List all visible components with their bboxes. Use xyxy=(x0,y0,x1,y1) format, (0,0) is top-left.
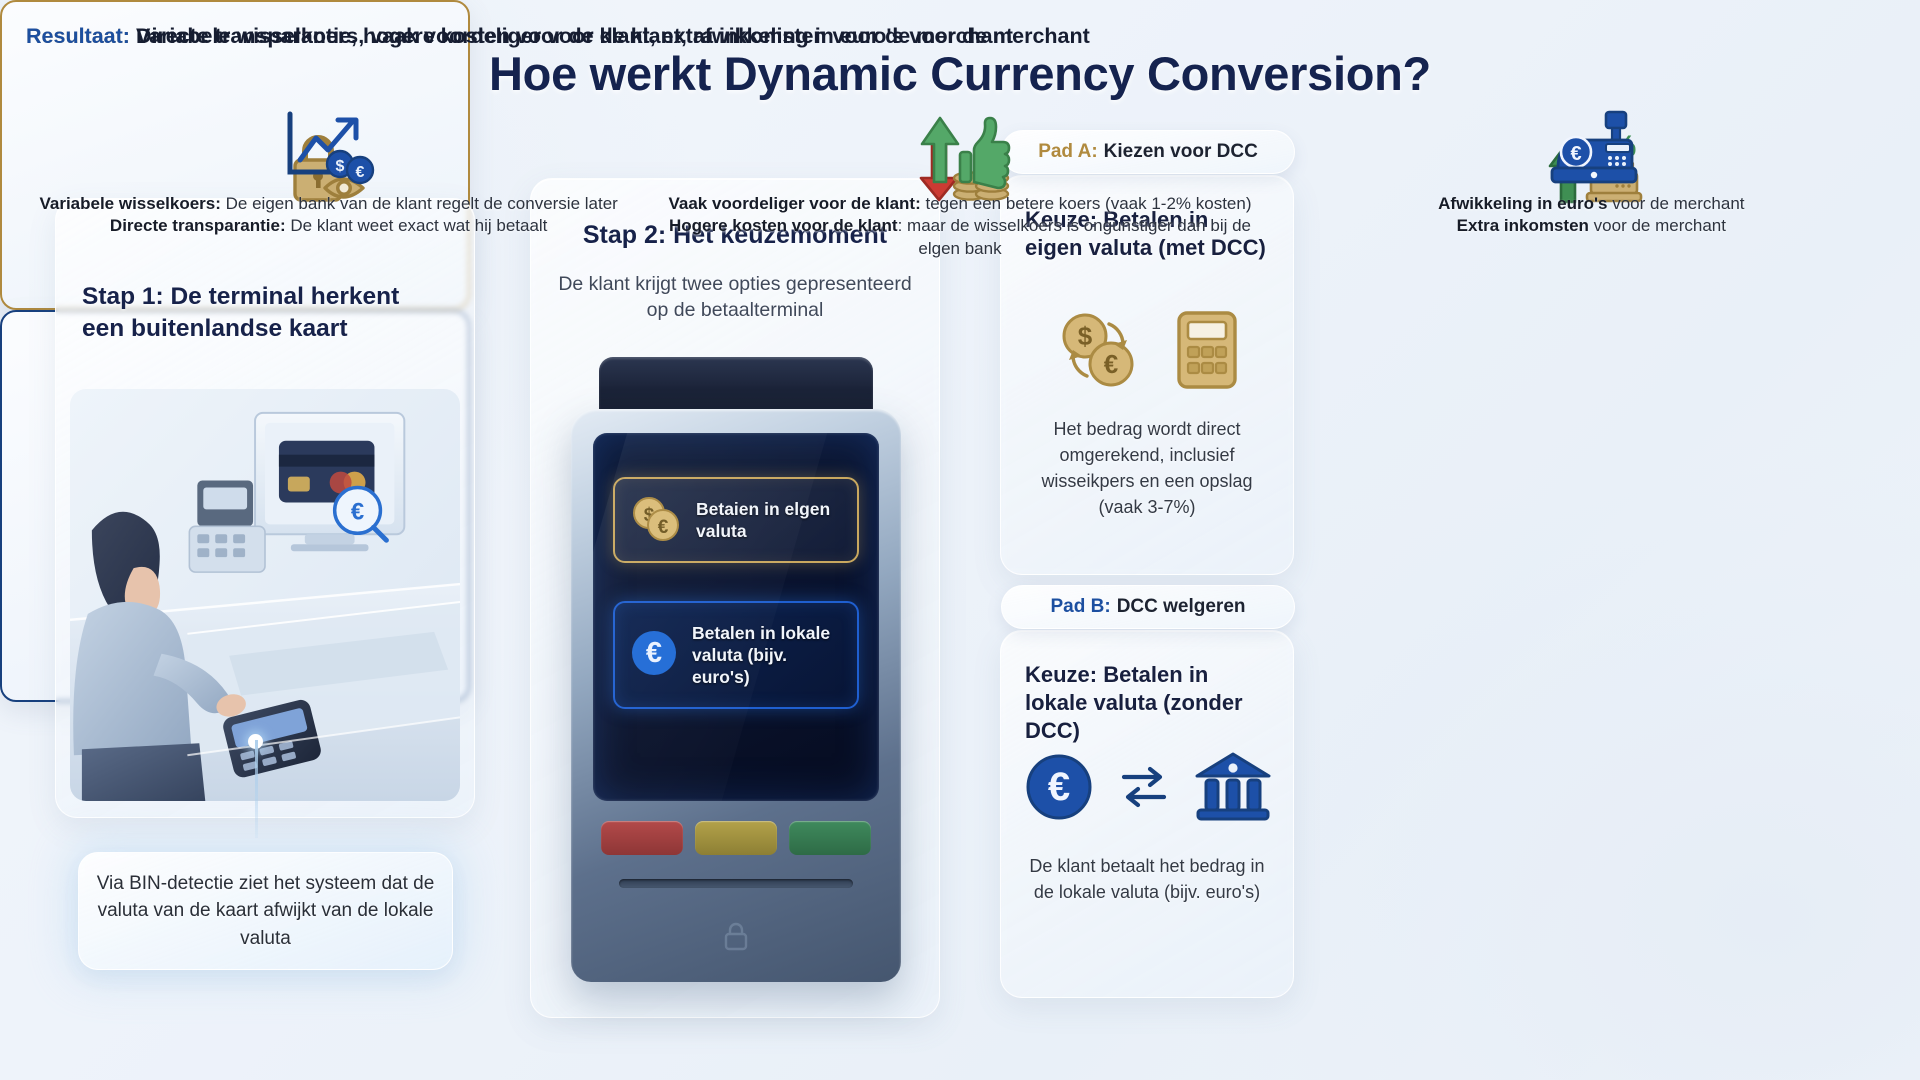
result-b-head-value: Variabele wisselkoers, vaak voordeliger … xyxy=(136,24,1090,48)
result-b-column-rest: tegen een betere koers (vaak 1-2% kosten… xyxy=(921,194,1252,213)
terminal-cancel-key[interactable] xyxy=(601,821,683,855)
path-b-heading: Keuze: Betalen in lokale valuta (zonder … xyxy=(1025,661,1271,745)
svg-text:$: $ xyxy=(644,505,655,526)
svg-text:€: € xyxy=(355,164,364,181)
result-a-column-text: Directe transparantie: De klant weet exa… xyxy=(110,214,547,237)
terminal-option-local-label: Betalen in lokale valuta (bijv. euro's) xyxy=(692,622,843,688)
terminal-option-dcc-label: Betaien in elgen valuta xyxy=(696,498,843,542)
result-a-column-text: Hogere kosten voor de klant: maar de wis… xyxy=(647,214,1272,261)
result-b-column-rest: voor de merchant xyxy=(1607,194,1744,213)
result-b-column-bold: Vaak voordeliger voor de klant: xyxy=(668,194,920,213)
step1-illustration: € xyxy=(70,389,460,801)
path-b-badge-value: DCC welgeren xyxy=(1117,596,1246,618)
terminal-keypad xyxy=(601,821,871,855)
terminal-option-pay-in-local-currency[interactable]: € Betalen in lokale valuta (bijv. euro's… xyxy=(613,601,859,709)
svg-text:€: € xyxy=(351,498,364,525)
result-b-column-text: Variabele wisselkoers: De eigen bank van… xyxy=(39,192,617,215)
path-a-icons: $ € xyxy=(1001,306,1295,398)
bin-detection-caption: Via BIN-detectie ziet het systeem dat de… xyxy=(78,852,453,970)
svg-text:$: $ xyxy=(335,158,344,175)
result-a-column-rest: voor de merchant xyxy=(1589,216,1726,235)
result-a-column-bold: Extra inkomsten xyxy=(1457,216,1589,235)
panel-step-1: Stap 1: De terminal herkent een buitenla… xyxy=(55,198,475,818)
svg-text:€: € xyxy=(1104,349,1118,379)
terminal-correct-key[interactable] xyxy=(695,821,777,855)
bin-connector-line xyxy=(255,740,258,838)
currency-exchange-coins-icon: $ € xyxy=(1057,310,1149,395)
svg-text:$: $ xyxy=(1078,321,1093,351)
payment-terminal: $ € Betaien in elgen valuta € B xyxy=(571,357,901,982)
green-up-arrow-thumbs-up-icon xyxy=(912,108,1008,186)
terminal-card-slot xyxy=(619,879,853,888)
result-a-column-bold: Directe transparantie: xyxy=(110,216,286,235)
euro-coin-icon: € xyxy=(629,628,679,683)
result-a-column-rest: : maar de wisselkoers is ongunstiger dan… xyxy=(898,216,1251,258)
panel-path-b: Pad B: DCC welgeren Keuze: Betalen in lo… xyxy=(1000,630,1294,998)
terminal-option-pay-in-own-currency[interactable]: $ € Betaien in elgen valuta xyxy=(613,477,859,563)
path-b-icons: € xyxy=(1001,743,1295,835)
result-b-column-bold: Variabele wisselkoers: xyxy=(39,194,220,213)
step1-title: Stap 1: De terminal herkent een buitenla… xyxy=(82,281,448,346)
dollar-euro-coins-icon: $ € xyxy=(629,495,683,546)
rising-chart-with-currency-coins-icon: $ € xyxy=(280,108,378,186)
result-b-column-rest: De eigen bank van de klant regelt de con… xyxy=(221,194,618,213)
svg-text:€: € xyxy=(1571,143,1582,165)
bank-icon xyxy=(1194,750,1272,829)
terminal-body: $ € Betaien in elgen valuta € B xyxy=(571,409,901,982)
svg-text:€: € xyxy=(1048,765,1070,809)
terminal-screen: $ € Betaien in elgen valuta € B xyxy=(593,433,879,801)
page-title: Hoe werkt Dynamic Currency Conversion? xyxy=(0,46,1920,101)
terminal-confirm-key[interactable] xyxy=(789,821,871,855)
step2-subtitle: De klant krijgt twee opties gepresenteer… xyxy=(549,271,921,324)
result-b-columns: $ € Variabele wisselkoers: De eigen bank… xyxy=(16,108,1904,215)
result-b-column: Vaak voordeliger voor de klant: tegen ee… xyxy=(647,108,1272,215)
panel-step-2: Stap 2: Het keuzemoment De klant krijgt … xyxy=(530,178,940,1018)
result-a-column-text: Extra inkomsten voor de merchant xyxy=(1457,214,1726,237)
exchange-arrows-icon xyxy=(1120,757,1168,822)
result-b-heading: Resultaat: Variabele wisselkoers, vaak v… xyxy=(26,22,1898,51)
result-b-column-bold: Afwikkeling in euro's xyxy=(1438,194,1607,213)
path-b-badge-key: Pad B: xyxy=(1051,596,1111,618)
result-a-column-bold: Hogere kosten voor de klant xyxy=(669,216,898,235)
result-b-head-key: Resultaat: xyxy=(26,24,130,48)
svg-text:€: € xyxy=(658,517,669,538)
result-b-column-text: Afwikkeling in euro's voor de merchant xyxy=(1438,192,1744,215)
result-b-column: $ € Variabele wisselkoers: De eigen bank… xyxy=(16,108,641,215)
result-b-column-text: Vaak voordeliger voor de klant: tegen ee… xyxy=(668,192,1251,215)
path-b-body: De klant betaalt het bedrag in de lokale… xyxy=(1023,853,1271,905)
path-a-body: Het bedrag wordt direct omgerekend, incl… xyxy=(1023,416,1271,520)
calculator-icon xyxy=(1175,309,1239,396)
bin-caption-text: Via BIN-detectie ziet het systeem dat de… xyxy=(79,870,452,953)
path-b-badge: Pad B: DCC welgeren xyxy=(1001,585,1295,629)
euro-coin-icon: € xyxy=(1024,752,1094,827)
blue-euro-cash-register-icon: € xyxy=(1544,108,1638,186)
result-b-column: € Afwikkeling in euro's voor de merchant xyxy=(1279,108,1904,215)
terminal-printer-top xyxy=(599,357,873,417)
result-a-column-rest: De klant weet exact wat hij betaalt xyxy=(286,216,548,235)
svg-text:€: € xyxy=(646,637,662,669)
lock-icon xyxy=(719,919,753,953)
